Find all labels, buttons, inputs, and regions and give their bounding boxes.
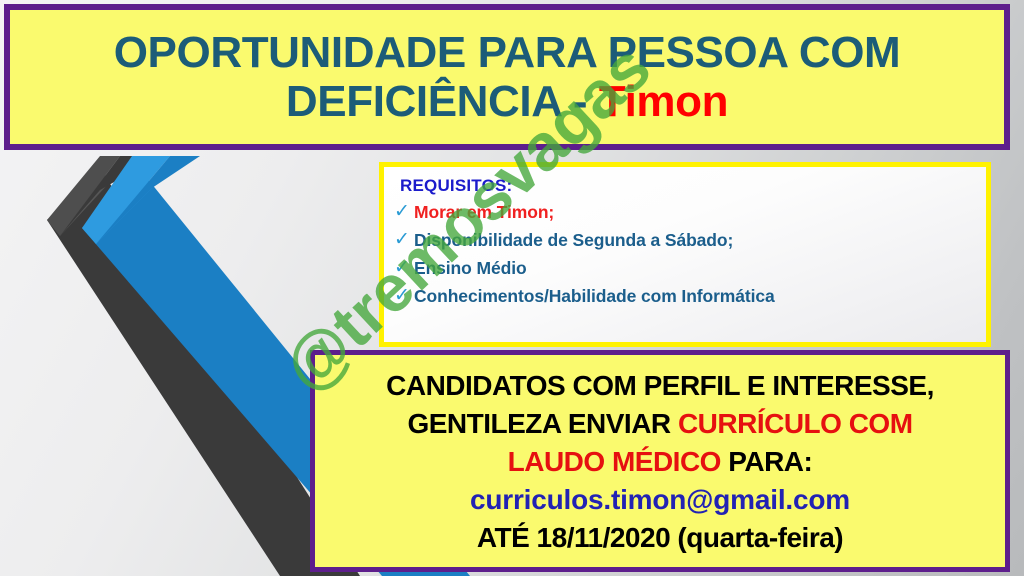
requirement-item: ✓ Disponibilidade de Segunda a Sábado; <box>394 230 986 251</box>
page-title-line-2: DEFICIÊNCIA - Timon <box>286 77 728 126</box>
chevron-blue-upper <box>82 156 170 244</box>
chevron-dark-lower-edge <box>47 168 110 236</box>
check-icon: ✓ <box>394 258 414 277</box>
contact-line-1: CANDIDATOS COM PERFIL E INTERESSE, <box>386 367 934 405</box>
requirement-text: Morar em Timon; <box>414 202 554 223</box>
contact-line-3: LAUDO MÉDICO PARA: <box>508 443 813 481</box>
requirement-item: ✓ Ensino Médio <box>394 258 986 279</box>
requirement-item: ✓ Morar em Timon; <box>394 202 986 223</box>
contact-email[interactable]: curriculos.timon@gmail.com <box>470 481 850 519</box>
chevron-blue-lower-edge <box>82 172 152 244</box>
page-title-line-2-prefix: DEFICIÊNCIA - <box>286 77 599 126</box>
page-title-line-1: OPORTUNIDADE PARA PESSOA COM <box>114 28 901 77</box>
requirements-box: REQUISITOS: ✓ Morar em Timon; ✓ Disponib… <box>379 162 991 347</box>
requirement-text: Conhecimentos/Habilidade com Informática <box>414 286 775 307</box>
requirements-heading: REQUISITOS: <box>400 176 986 196</box>
chevron-dark-upper-face <box>60 156 160 236</box>
poster-slide: OPORTUNIDADE PARA PESSOA COM DEFICIÊNCIA… <box>0 0 1024 576</box>
contact-line-2-highlight: CURRÍCULO COM <box>678 408 913 439</box>
check-icon: ✓ <box>394 230 414 249</box>
requirement-item: ✓ Conhecimentos/Habilidade com Informáti… <box>394 286 986 307</box>
page-title-city: Timon <box>599 77 728 126</box>
contact-deadline: ATÉ 18/11/2020 (quarta-feira) <box>477 519 843 557</box>
chevron-blue-upper-face <box>96 156 200 244</box>
check-icon: ✓ <box>394 286 414 305</box>
poster-title-box: OPORTUNIDADE PARA PESSOA COM DEFICIÊNCIA… <box>4 4 1010 150</box>
requirement-text: Disponibilidade de Segunda a Sábado; <box>414 230 733 251</box>
chevron-dark-upper <box>47 156 120 236</box>
contact-line-2: GENTILEZA ENVIAR CURRÍCULO COM <box>407 405 912 443</box>
contact-line-3-highlight: LAUDO MÉDICO <box>508 446 721 477</box>
contact-line-2-prefix: GENTILEZA ENVIAR <box>407 408 677 439</box>
check-icon: ✓ <box>394 202 414 221</box>
contact-box: CANDIDATOS COM PERFIL E INTERESSE, GENTI… <box>310 350 1010 572</box>
contact-line-3-suffix: PARA: <box>721 446 812 477</box>
requirement-text: Ensino Médio <box>414 258 527 279</box>
